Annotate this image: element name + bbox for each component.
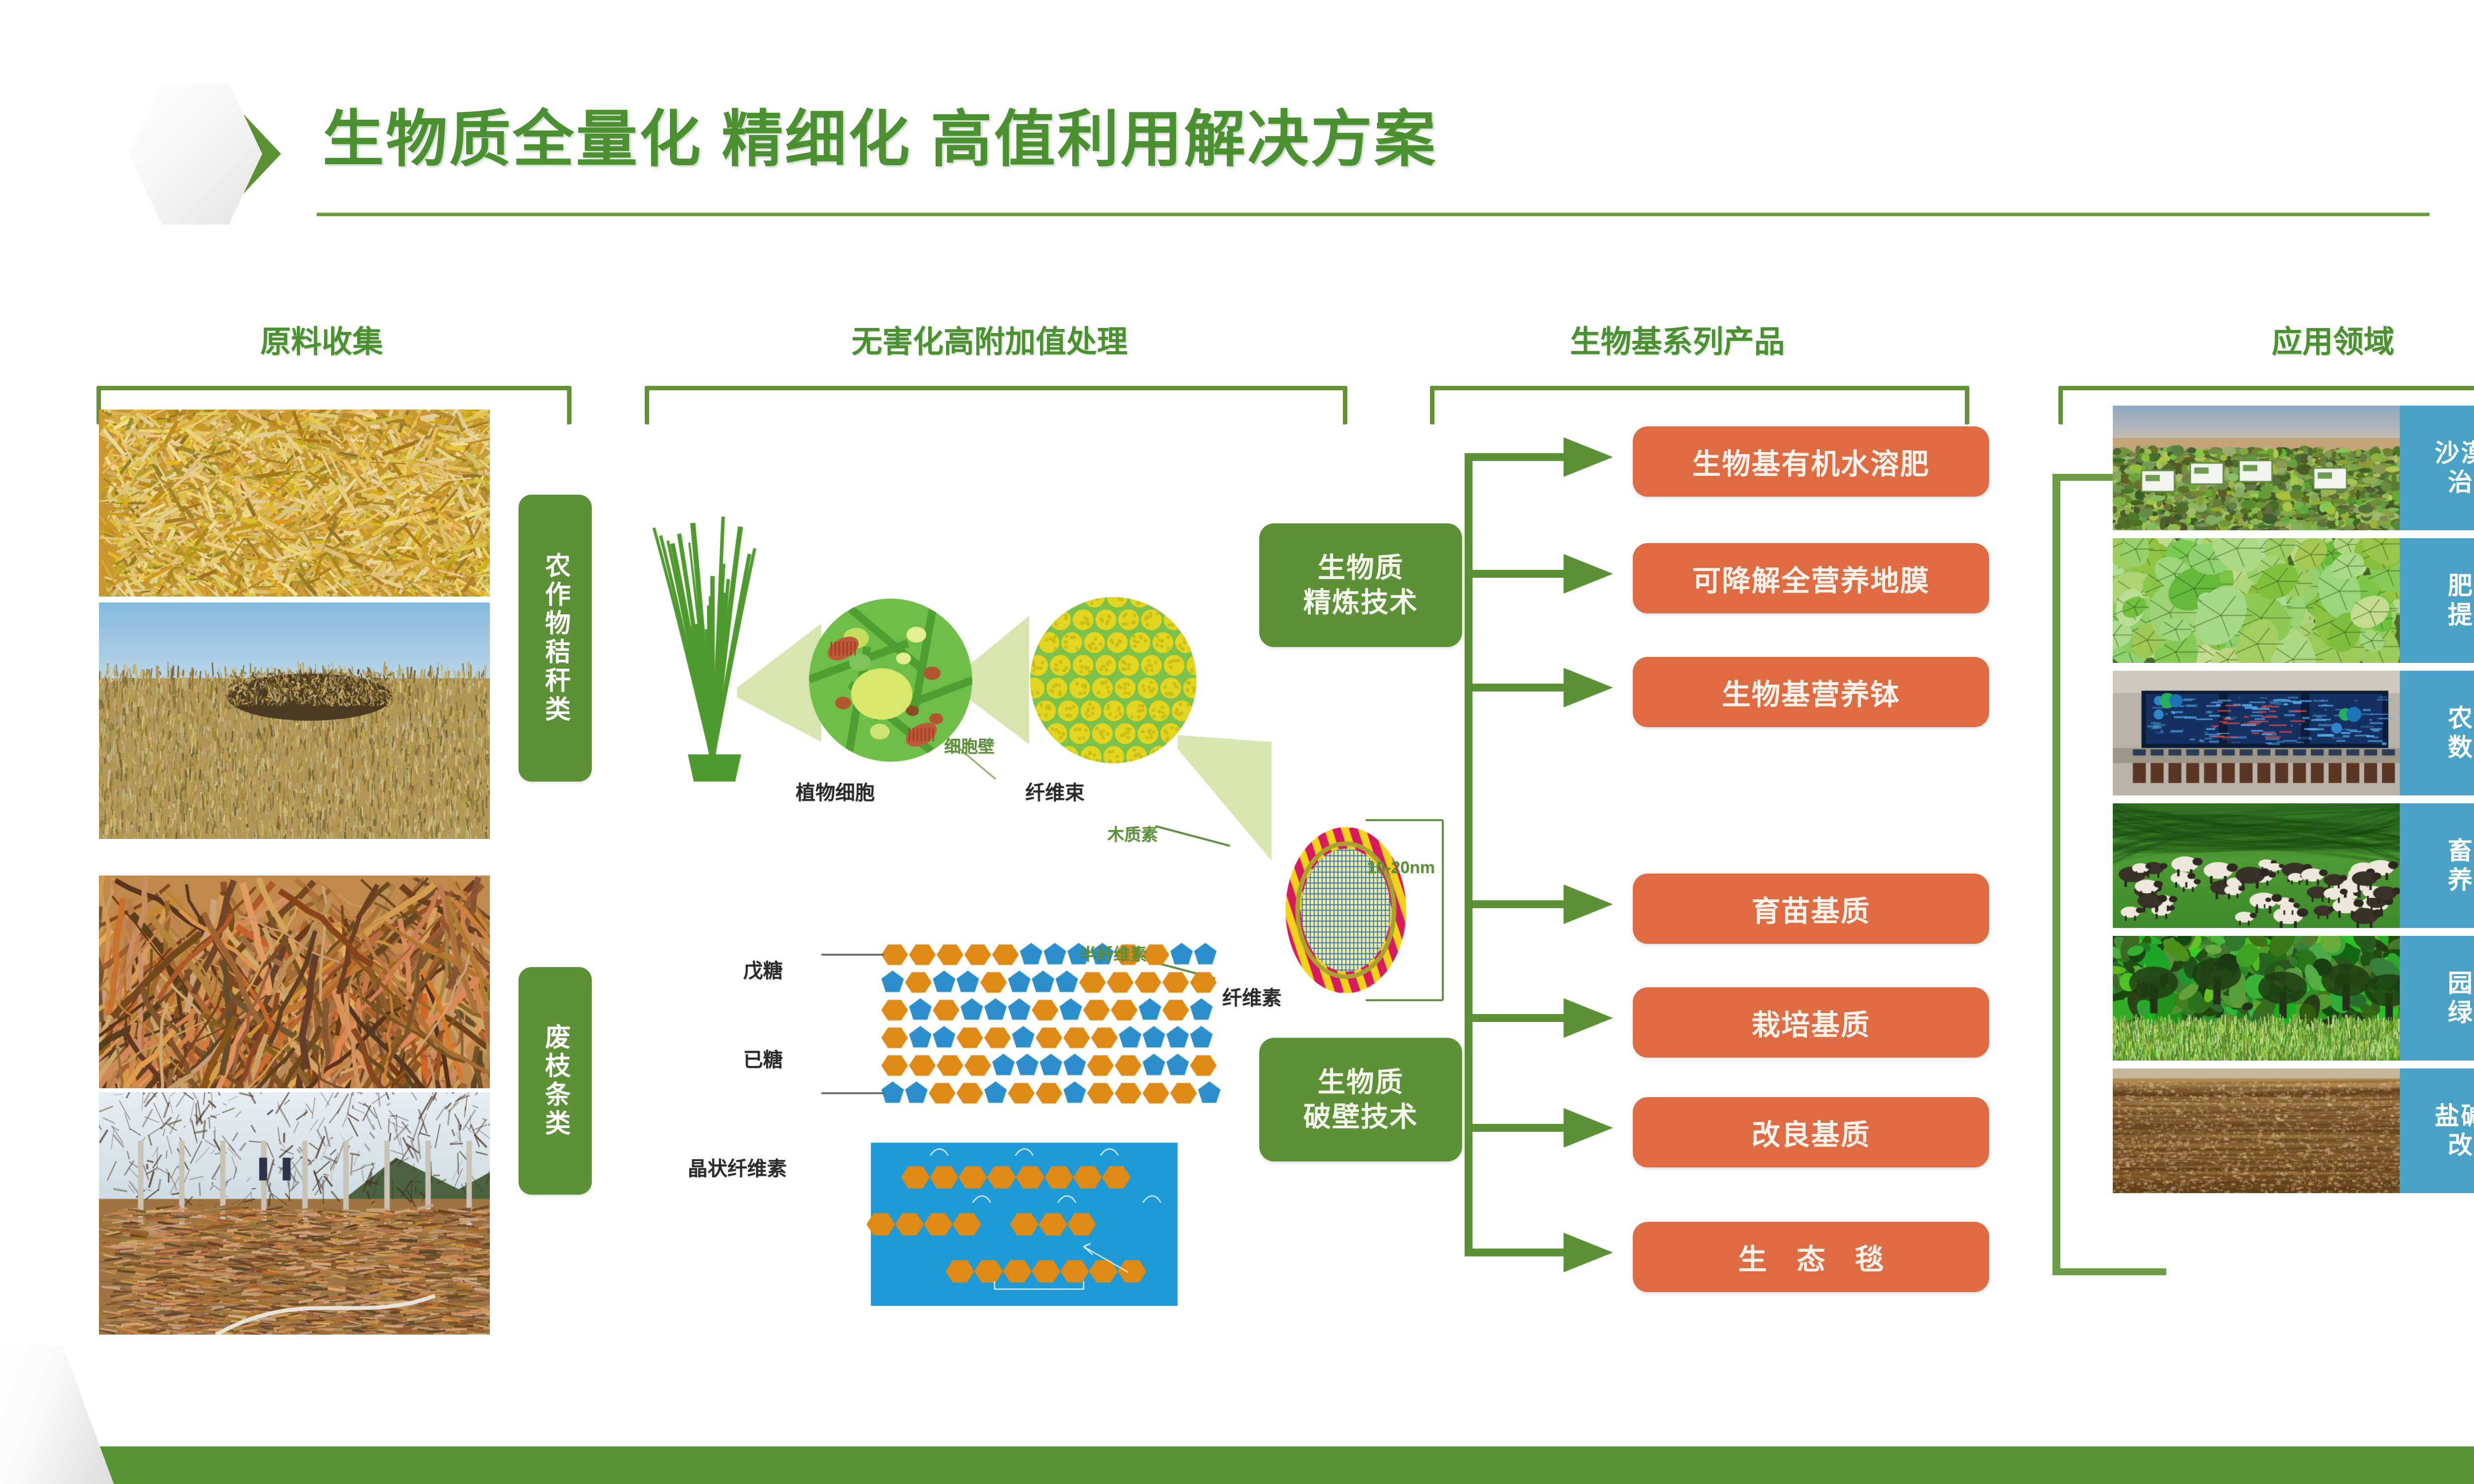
application-label-livestock[interactable]: 畜牧 养殖	[2400, 803, 2474, 928]
photo-data-control-room	[2113, 671, 2400, 795]
app-line-2: 提升	[2448, 601, 2474, 630]
application-label-agri-data[interactable]: 农业 数据	[2400, 671, 2474, 795]
bracket-processing	[645, 386, 1347, 424]
product-pill-biodegradable-mulch-film[interactable]: 可降解全营养地膜	[1633, 543, 1989, 613]
app-line-1: 肥力	[2448, 571, 2474, 601]
app-line-2: 绿化	[2448, 998, 2474, 1027]
application-label-fertility[interactable]: 肥力 提升	[2400, 538, 2474, 663]
section-title-collection: 原料收集	[183, 317, 460, 361]
product-pill-seedling-substrate[interactable]: 育苗基质	[1633, 874, 1989, 944]
product-pill-water-soluble-fertilizer[interactable]: 生物基有机水溶肥	[1633, 426, 1989, 497]
product-pill-ecological-blanket[interactable]: 生 态 毯	[1633, 1222, 1989, 1292]
label-hexose: 已糖	[743, 1044, 783, 1072]
application-label-landscaping[interactable]: 园林 绿化	[2400, 936, 2474, 1061]
photo-orchard-pruning	[99, 1092, 490, 1335]
tech-line-2: 破壁技术	[1303, 1100, 1418, 1134]
section-title-application: 应用领域	[2083, 317, 2474, 361]
application-label-desertification[interactable]: 沙漠化 治理	[2400, 406, 2474, 530]
app-line-1: 畜牧	[2448, 836, 2474, 866]
label-pentose: 戊糖	[743, 955, 783, 983]
label-crystalline-cellulose: 晶状纤维素	[688, 1153, 787, 1181]
footer-wedge	[0, 1345, 114, 1484]
photo-straw-bale	[99, 603, 490, 839]
label-dimension: 10-20nm	[1367, 858, 1435, 878]
product-pill-cultivation-substrate[interactable]: 栽培基质	[1633, 987, 1989, 1058]
photo-saline-alkali-soil	[2113, 1068, 2400, 1193]
application-label-saline-alkali[interactable]: 盐碱地 改良	[2400, 1068, 2474, 1193]
app-line-1: 盐碱地	[2435, 1102, 2474, 1131]
app-line-1: 农业	[2448, 704, 2474, 733]
tech-pill-wall-breaking[interactable]: 生物质 破壁技术	[1259, 1038, 1462, 1161]
hexagon-chevron-icon	[133, 83, 281, 225]
photo-cabbage-field	[2113, 538, 2400, 663]
photo-park-trees	[2113, 936, 2400, 1061]
infographic-slide: 生物质全量化 精细化 高值利用解决方案 原料收集 无害化高附加值处理 生物基系列…	[0, 0, 2474, 1484]
product-pill-nutrient-pot[interactable]: 生物基营养钵	[1633, 657, 1989, 727]
app-line-2: 治理	[2448, 468, 2474, 497]
section-title-products: 生物基系列产品	[1420, 317, 1935, 361]
label-plant-cell: 植物细胞	[796, 777, 875, 805]
feedstock-category-straw[interactable]: 农作物秸秆类	[519, 495, 592, 782]
footer-bar	[0, 1446, 2474, 1484]
app-line-2: 改良	[2448, 1131, 2474, 1160]
bracket-products	[1430, 386, 1969, 424]
feedstock-category-branches[interactable]: 废枝条类	[519, 967, 592, 1195]
app-line-1: 沙漠化	[2435, 439, 2474, 468]
label-cell-wall: 细胞壁	[944, 733, 995, 757]
app-line-2: 养殖	[2448, 866, 2474, 895]
label-cellulose: 纤维素	[1222, 982, 1282, 1011]
photo-desert-restoration	[2113, 406, 2400, 530]
label-lignin: 木质素	[1107, 821, 1158, 845]
hexagon-shape	[129, 83, 262, 225]
label-fiber-bundle: 纤维束	[1025, 777, 1085, 805]
tech-line-1: 生物质	[1318, 1065, 1404, 1100]
tech-pill-refining[interactable]: 生物质 精炼技术	[1259, 523, 1462, 647]
photo-pruned-branches	[99, 876, 490, 1088]
photo-corn-stover	[99, 410, 490, 597]
product-pill-improvement-substrate[interactable]: 改良基质	[1633, 1097, 1989, 1167]
tech-line-2: 精炼技术	[1303, 585, 1418, 620]
section-title-processing: 无害化高附加值处理	[732, 317, 1247, 361]
app-line-1: 园林	[2448, 969, 2474, 998]
title-divider	[317, 213, 2429, 216]
app-line-2: 数据	[2448, 733, 2474, 762]
photo-sheep-pasture	[2113, 803, 2400, 928]
tech-line-1: 生物质	[1318, 551, 1404, 585]
label-hemicellulose: 半纤维素	[1080, 941, 1147, 965]
page-title: 生物质全量化 精细化 高值利用解决方案	[323, 89, 1437, 178]
